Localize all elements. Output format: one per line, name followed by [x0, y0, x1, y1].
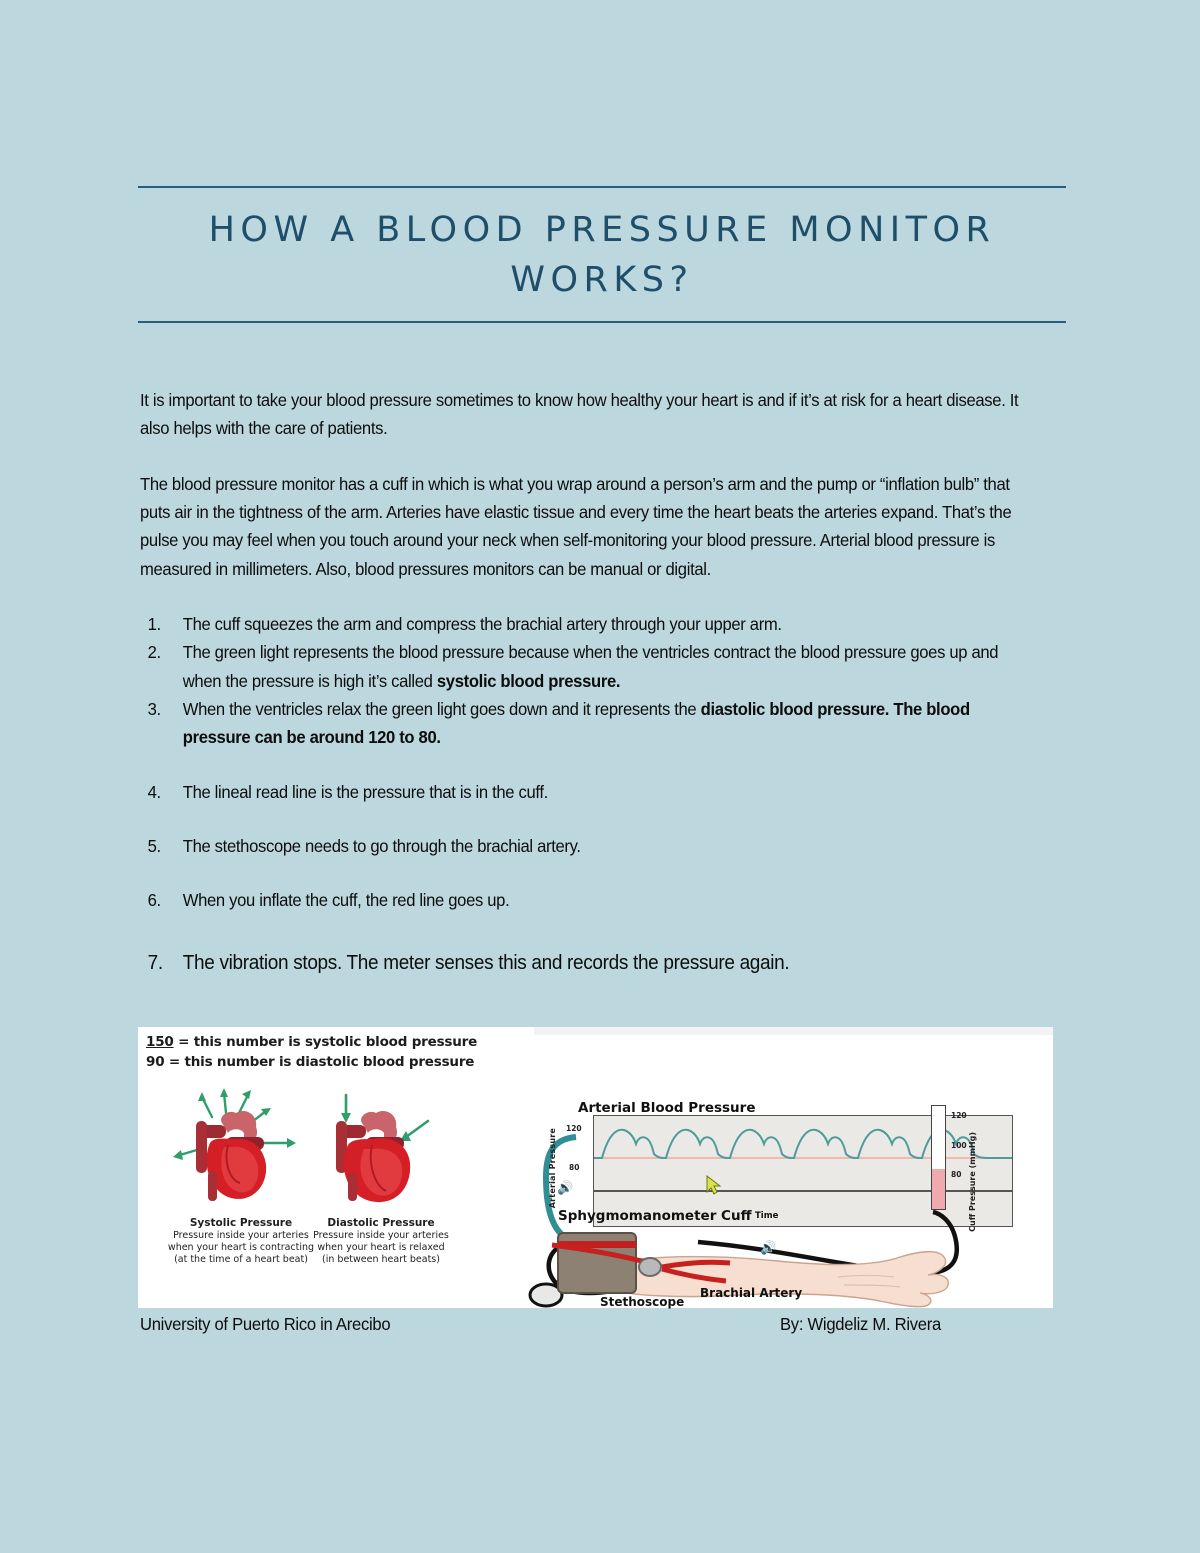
stethoscope-label: Stethoscope: [600, 1295, 684, 1309]
step-6-text-1: When you inflate the cuff, the red line …: [183, 890, 510, 910]
manometer-tick-120: 120: [951, 1112, 967, 1120]
step-number-4: 4.: [148, 778, 177, 806]
time-axis-label: Time: [755, 1211, 778, 1221]
paragraph-2: The blood pressure monitor has a cuff in…: [140, 470, 1024, 583]
sphygmomanometer-cuff-label: Sphygmomanometer Cuff: [558, 1208, 752, 1224]
step-item-2: 2. The green light represents the blood …: [140, 638, 1024, 695]
numbered-step-list: 1.The cuff squeezes the arm and compress…: [140, 610, 1070, 979]
step-item-6: 6.When you inflate the cuff, the red lin…: [140, 886, 1024, 914]
manometer-mercury: [932, 1169, 945, 1209]
step-item-1: 1.The cuff squeezes the arm and compress…: [140, 610, 1024, 638]
document-body: It is important to take your blood press…: [140, 386, 1070, 979]
step-number-7: 7.: [148, 947, 177, 979]
step-item-4: 4.The lineal read line is the pressure t…: [140, 778, 1024, 806]
step-5-text-1: The stethoscope needs to go through the …: [183, 836, 581, 856]
step-7-text-1: The vibration stops. The meter senses th…: [183, 952, 790, 974]
blood-pressure-figure: 150 = this number is systolic blood pres…: [138, 1027, 1053, 1308]
y-tick-80: 80: [569, 1163, 579, 1172]
y-tick-120: 120: [566, 1124, 582, 1133]
step-number-1: 1.: [148, 610, 177, 638]
step-4-text-1: The lineal read line is the pressure tha…: [183, 782, 548, 802]
footer-institution: University of Puerto Rico in Arecibo: [140, 1314, 390, 1335]
step-item-7: 7.The vibration stops. The meter senses …: [140, 947, 1024, 979]
footer-author: By: Wigdeliz M. Rivera: [780, 1314, 941, 1335]
title-rule-bottom: [138, 321, 1066, 323]
step-number-3: 3.: [148, 695, 177, 723]
manometer-tick-100: 100: [951, 1142, 967, 1150]
step-number-2: 2.: [148, 638, 177, 666]
cuff-pressure-axis-label: Cuff Pressure (mmHg): [968, 1132, 978, 1232]
brachial-artery-label: Brachial Artery: [700, 1286, 802, 1300]
speaker-icon-left: 🔊: [557, 1180, 573, 1196]
manometer-tick-80: 80: [951, 1171, 967, 1179]
step-3-text-1: When the ventricles relax the green ligh…: [183, 699, 701, 719]
speaker-icon-right: 🔊: [760, 1240, 776, 1256]
step-item-3: 3.When the ventricles relax the green li…: [140, 695, 1024, 752]
arm-and-cuff-illustration: [138, 1027, 1053, 1308]
step-number-6: 6.: [148, 886, 177, 914]
cursor-arrow-icon: [705, 1175, 723, 1195]
document-page: HOW A BLOOD PRESSURE MONITOR WORKS? It i…: [0, 0, 1200, 1553]
step-number-5: 5.: [148, 832, 177, 860]
manometer-tick-labels: 120 100 80: [951, 1112, 967, 1179]
stethoscope-head: [639, 1258, 661, 1276]
step-2-text-2: systolic blood pressure.: [437, 671, 620, 691]
paragraph-1: It is important to take your blood press…: [140, 386, 1024, 443]
step-item-5: 5. The stethoscope needs to go through t…: [140, 832, 1024, 860]
page-title: HOW A BLOOD PRESSURE MONITOR WORKS?: [138, 188, 1066, 321]
arterial-pressure-axis-label: Arterial Pressure: [548, 1128, 558, 1208]
step-1-text-1: The cuff squeezes the arm and compress t…: [183, 614, 782, 634]
manometer-column: [931, 1105, 946, 1210]
title-block: HOW A BLOOD PRESSURE MONITOR WORKS?: [138, 186, 1066, 323]
arterial-blood-pressure-label: Arterial Blood Pressure: [578, 1100, 755, 1116]
